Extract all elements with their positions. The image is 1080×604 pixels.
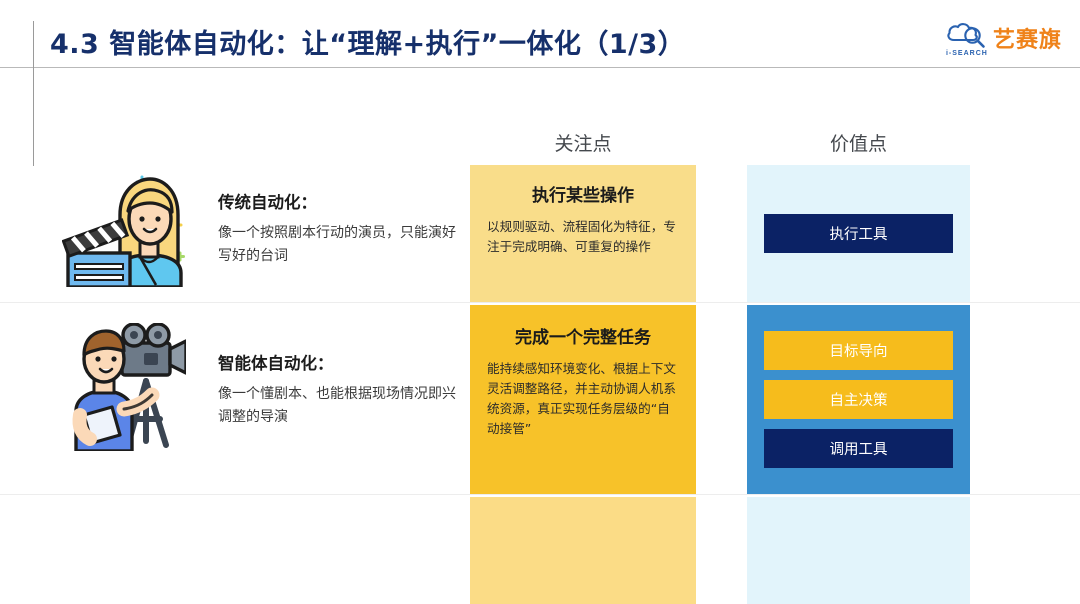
brand-logo: i-SEARCH 艺赛旗 <box>944 21 1062 55</box>
value-chip-tool-invocation[interactable]: 调用工具 <box>764 429 953 468</box>
focus-card-description: 以规则驱动、流程固化为特征，专注于完成明确、可重复的操作 <box>487 217 679 257</box>
logo-brand-text: 艺赛旗 <box>993 22 1062 54</box>
row-description: 像一个懂剧本、也能根据现场情况即兴调整的导演 <box>218 383 458 428</box>
focus-card-title: 执行某些操作 <box>487 181 679 206</box>
row-label-agentic: 智能体自动化： 像一个懂剧本、也能根据现场情况即兴调整的导演 <box>218 350 458 428</box>
row-label-traditional: 传统自动化： 像一个按照剧本行动的演员，只能演好写好的台词 <box>218 189 458 267</box>
value-chip-goal-oriented[interactable]: 目标导向 <box>764 331 953 370</box>
focus-card-title: 完成一个完整任务 <box>487 323 679 348</box>
director-camera-icon <box>62 323 186 456</box>
page-title: 4.3 智能体自动化：让“理解+执行”一体化（1/3） <box>50 22 685 61</box>
value-chip-autonomous-decision[interactable]: 自主决策 <box>764 380 953 419</box>
focus-card-traditional: 执行某些操作 以规则驱动、流程固化为特征，专注于完成明确、可重复的操作 <box>470 165 696 302</box>
row-divider-2 <box>0 494 1080 495</box>
row-title: 智能体自动化： <box>218 350 458 374</box>
comparison-row-traditional: 传统自动化： 像一个按照剧本行动的演员，只能演好写好的台词 执行某些操作 以规则… <box>0 165 1080 302</box>
comparison-row-agentic: 智能体自动化： 像一个懂剧本、也能根据现场情况即兴调整的导演 完成一个完整任务 … <box>0 305 1080 494</box>
header-vertical-accent <box>33 21 34 166</box>
actress-clapperboard-icon <box>62 169 186 292</box>
focus-card-agentic: 完成一个完整任务 能持续感知环境变化、根据上下文灵活调整路径，并主动协调人机系统… <box>470 305 696 494</box>
focus-card-next <box>470 497 696 604</box>
header-divider <box>0 67 1080 68</box>
row-description: 像一个按照剧本行动的演员，只能演好写好的台词 <box>218 222 458 267</box>
comparison-row-next <box>0 497 1080 604</box>
column-header-value: 价值点 <box>747 129 970 156</box>
focus-card-description: 能持续感知环境变化、根据上下文灵活调整路径，并主动协调人机系统资源，真正实现任务… <box>487 359 679 440</box>
logo-subtext: i-SEARCH <box>946 50 988 57</box>
value-card-next <box>747 497 970 604</box>
value-card-traditional: 执行工具 <box>747 165 970 302</box>
value-card-agentic: 目标导向 自主决策 调用工具 <box>747 305 970 494</box>
cloud-magnifier-icon: i-SEARCH <box>944 21 988 55</box>
row-title: 传统自动化： <box>218 189 458 213</box>
column-header-focus: 关注点 <box>470 129 696 156</box>
row-divider-1 <box>0 302 1080 303</box>
value-chip-execution-tool[interactable]: 执行工具 <box>764 214 953 253</box>
